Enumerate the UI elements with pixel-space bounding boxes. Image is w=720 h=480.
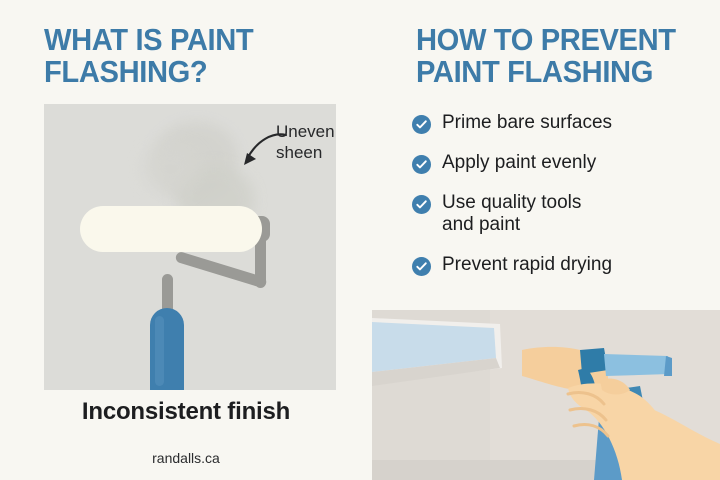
paint-flashing-illustration: Uneven sheen (44, 104, 336, 390)
left-caption: Inconsistent finish (0, 398, 372, 426)
list-item-label: Use quality tools and paint (442, 192, 581, 238)
hand-holding-spray-bottle-icon (372, 310, 720, 480)
site-label: randalls.ca (0, 450, 372, 466)
paint-roller-icon (44, 104, 336, 390)
check-circle-icon (412, 115, 431, 134)
list-item: Apply paint evenly (412, 152, 712, 175)
list-item: Use quality tools and paint (412, 192, 712, 238)
right-heading: HOW TO PREVENT PAINT FLASHING (416, 24, 698, 88)
list-item-label: Prevent rapid drying (442, 254, 612, 277)
list-item: Prime bare surfaces (412, 112, 712, 135)
roller-frame-bar (174, 251, 267, 289)
left-column: WHAT IS PAINT FLASHING? Uneven sheen (0, 0, 372, 480)
prevention-checklist: Prime bare surfaces Apply paint evenly U… (412, 112, 712, 294)
left-heading: WHAT IS PAINT FLASHING? (44, 24, 345, 88)
roller-grip-highlight (155, 316, 164, 386)
check-circle-icon (412, 257, 431, 276)
list-item-label: Prime bare surfaces (442, 112, 612, 135)
roller-cover (80, 206, 262, 252)
right-column: HOW TO PREVENT PAINT FLASHING Prime bare… (372, 0, 720, 480)
list-item: Prevent rapid drying (412, 254, 712, 277)
infographic-page: WHAT IS PAINT FLASHING? Uneven sheen (0, 0, 720, 480)
list-item-label: Apply paint evenly (442, 152, 596, 175)
check-circle-icon (412, 195, 431, 214)
check-circle-icon (412, 155, 431, 174)
